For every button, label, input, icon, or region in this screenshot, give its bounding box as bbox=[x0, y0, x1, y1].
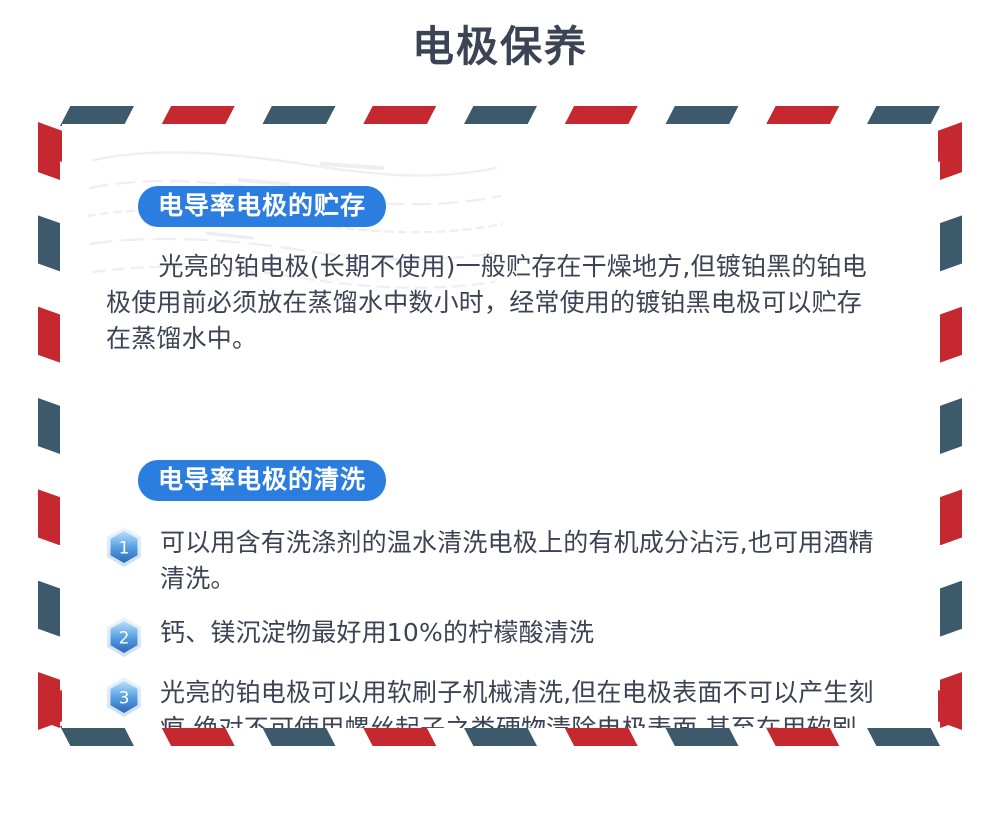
border-stripe-dash bbox=[38, 672, 60, 728]
border-stripe-dash bbox=[463, 726, 537, 746]
envelope-inner-surface: 电导率电极的贮存 光亮的铂电极(长期不使用)一般贮存在干燥地方,但镀铂黑的铂电极… bbox=[62, 124, 938, 728]
list-item-text: 光亮的铂电极可以用软刷子机械清洗,但在电极表面不可以产生刻痕,绝对不可使用螺丝起… bbox=[160, 675, 878, 728]
border-stripe-dash bbox=[866, 726, 940, 746]
list-item-text: 可以用含有洗涤剂的温水清洗电极上的有机成分沾污,也可用酒精清洗。 bbox=[160, 525, 878, 597]
section-badge-storage: 电导率电极的贮存 bbox=[138, 186, 386, 227]
border-stripe-dash bbox=[60, 726, 134, 746]
list-item: 2 钙、镁沉淀物最好用10%的柠檬酸清洗 bbox=[106, 615, 878, 657]
border-stripe-dash bbox=[38, 581, 60, 637]
border-stripe-dash bbox=[940, 124, 962, 180]
list-item-text: 钙、镁沉淀物最好用10%的柠檬酸清洗 bbox=[160, 615, 594, 651]
border-stripes-bottom bbox=[60, 726, 940, 746]
border-stripe-dash bbox=[38, 398, 60, 454]
border-stripe-dash bbox=[665, 106, 739, 126]
border-stripe-dash bbox=[940, 215, 962, 271]
section-paragraph-storage: 光亮的铂电极(长期不使用)一般贮存在干燥地方,但镀铂黑的铂电极使用前必须放在蒸馏… bbox=[106, 249, 878, 357]
border-stripe-dash bbox=[564, 726, 638, 746]
border-stripe-dash bbox=[463, 106, 537, 126]
list-item: 1 可以用含有洗涤剂的温水清洗电极上的有机成分沾污,也可用酒精清洗。 bbox=[106, 525, 878, 597]
border-stripe-dash bbox=[564, 106, 638, 126]
page-title: 电极保养 bbox=[0, 22, 1000, 72]
border-stripe-dash bbox=[262, 106, 336, 126]
border-stripe-dash bbox=[262, 726, 336, 746]
border-stripe-dash bbox=[866, 106, 940, 126]
hexagon-number-label: 3 bbox=[119, 689, 130, 709]
border-stripes-left bbox=[38, 124, 60, 728]
border-stripe-dash bbox=[38, 124, 60, 180]
border-stripe-dash bbox=[765, 726, 839, 746]
border-stripes-top bbox=[60, 106, 940, 126]
border-stripe-dash bbox=[161, 106, 235, 126]
border-stripe-dash bbox=[940, 581, 962, 637]
airmail-envelope-frame: 电导率电极的贮存 光亮的铂电极(长期不使用)一般贮存在干燥地方,但镀铂黑的铂电极… bbox=[32, 98, 968, 754]
list-item: 3 光亮的铂电极可以用软刷子机械清洗,但在电极表面不可以产生刻痕,绝对不可使用螺… bbox=[106, 675, 878, 728]
border-stripe-dash bbox=[940, 307, 962, 363]
border-stripe-dash bbox=[362, 726, 436, 746]
hexagon-number-label: 2 bbox=[119, 629, 130, 649]
border-stripe-dash bbox=[38, 489, 60, 545]
border-stripe-dash bbox=[940, 672, 962, 728]
border-stripe-dash bbox=[362, 106, 436, 126]
poster-page: 电极保养 bbox=[0, 0, 1000, 822]
border-stripe-dash bbox=[38, 215, 60, 271]
border-stripe-dash bbox=[940, 489, 962, 545]
hexagon-number-icon: 1 bbox=[106, 527, 142, 567]
border-stripe-dash bbox=[940, 398, 962, 454]
hexagon-number-label: 1 bbox=[119, 539, 130, 559]
border-stripe-dash bbox=[665, 726, 739, 746]
hexagon-number-icon: 2 bbox=[106, 617, 142, 657]
border-stripe-dash bbox=[60, 106, 134, 126]
border-stripe-dash bbox=[38, 307, 60, 363]
hexagon-number-icon: 3 bbox=[106, 677, 142, 717]
section-badge-cleaning: 电导率电极的清洗 bbox=[138, 460, 386, 501]
cleaning-steps-list: 1 可以用含有洗涤剂的温水清洗电极上的有机成分沾污,也可用酒精清洗。 2 bbox=[106, 525, 878, 728]
border-stripe-dash bbox=[161, 726, 235, 746]
border-stripes-right bbox=[940, 124, 962, 728]
section-cleaning: 电导率电极的清洗 bbox=[138, 460, 878, 728]
border-stripe-dash bbox=[765, 106, 839, 126]
section-storage: 电导率电极的贮存 光亮的铂电极(长期不使用)一般贮存在干燥地方,但镀铂黑的铂电极… bbox=[138, 186, 878, 357]
